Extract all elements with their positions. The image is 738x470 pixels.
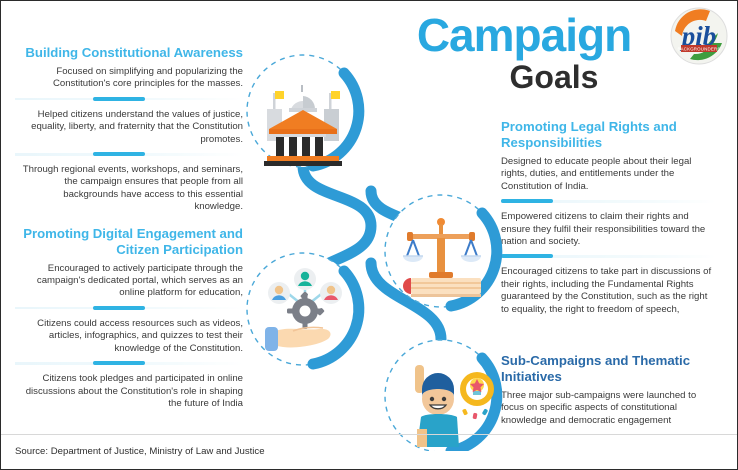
section-heading: Building Constitutional Awareness <box>15 45 243 61</box>
section-promoting-legal-rights: Promoting Legal Rights and Responsibilit… <box>501 119 716 320</box>
section-paragraph: Empowered citizens to claim their rights… <box>501 211 716 248</box>
section-paragraph: Three major sub-campaigns were launched … <box>501 390 716 427</box>
section-paragraph: Citizens took pledges and participated i… <box>15 373 243 410</box>
section-paragraph: Designed to educate people about their l… <box>501 156 716 193</box>
divider <box>15 150 243 159</box>
section-building-constitutional-awareness: Building Constitutional Awareness Focuse… <box>15 45 243 214</box>
section-promoting-digital-engagement: Promoting Digital Engagement and Citizen… <box>15 226 243 411</box>
section-paragraph: Focused on simplifying and popularizing … <box>15 66 243 91</box>
section-sub-campaigns: Sub-Campaigns and Thematic Initiatives T… <box>501 353 716 431</box>
section-heading: Promoting Legal Rights and Responsibilit… <box>501 119 716 151</box>
divider <box>15 304 243 313</box>
section-heading: Sub-Campaigns and Thematic Initiatives <box>501 353 716 385</box>
section-paragraph: Encouraged to actively participate throu… <box>15 263 243 300</box>
section-paragraph: Helped citizens understand the values of… <box>15 109 243 146</box>
svg-text:BACKGROUNDERS: BACKGROUNDERS <box>677 47 720 52</box>
section-paragraph: Through regional events, workshops, and … <box>15 164 243 214</box>
footer-divider <box>1 434 737 435</box>
infographic-canvas: Campaign Goals pib BACKGROUNDERS Buildin… <box>1 1 737 469</box>
divider <box>15 95 243 104</box>
divider <box>501 197 716 206</box>
divider <box>15 359 243 368</box>
pib-backgrounders-logo: pib BACKGROUNDERS <box>670 7 728 65</box>
source-text: Source: Department of Justice, Ministry … <box>15 446 265 457</box>
section-paragraph: Citizens could access resources such as … <box>15 318 243 355</box>
section-heading: Promoting Digital Engagement and Citizen… <box>15 226 243 258</box>
section-paragraph: Encouraged citizens to take part in disc… <box>501 266 716 316</box>
central-diagram: .dash { fill:#ffffff; stroke:#4aa8d8; st… <box>241 51 503 451</box>
divider <box>501 252 716 261</box>
left-column: Building Constitutional Awareness Focuse… <box>15 45 243 414</box>
